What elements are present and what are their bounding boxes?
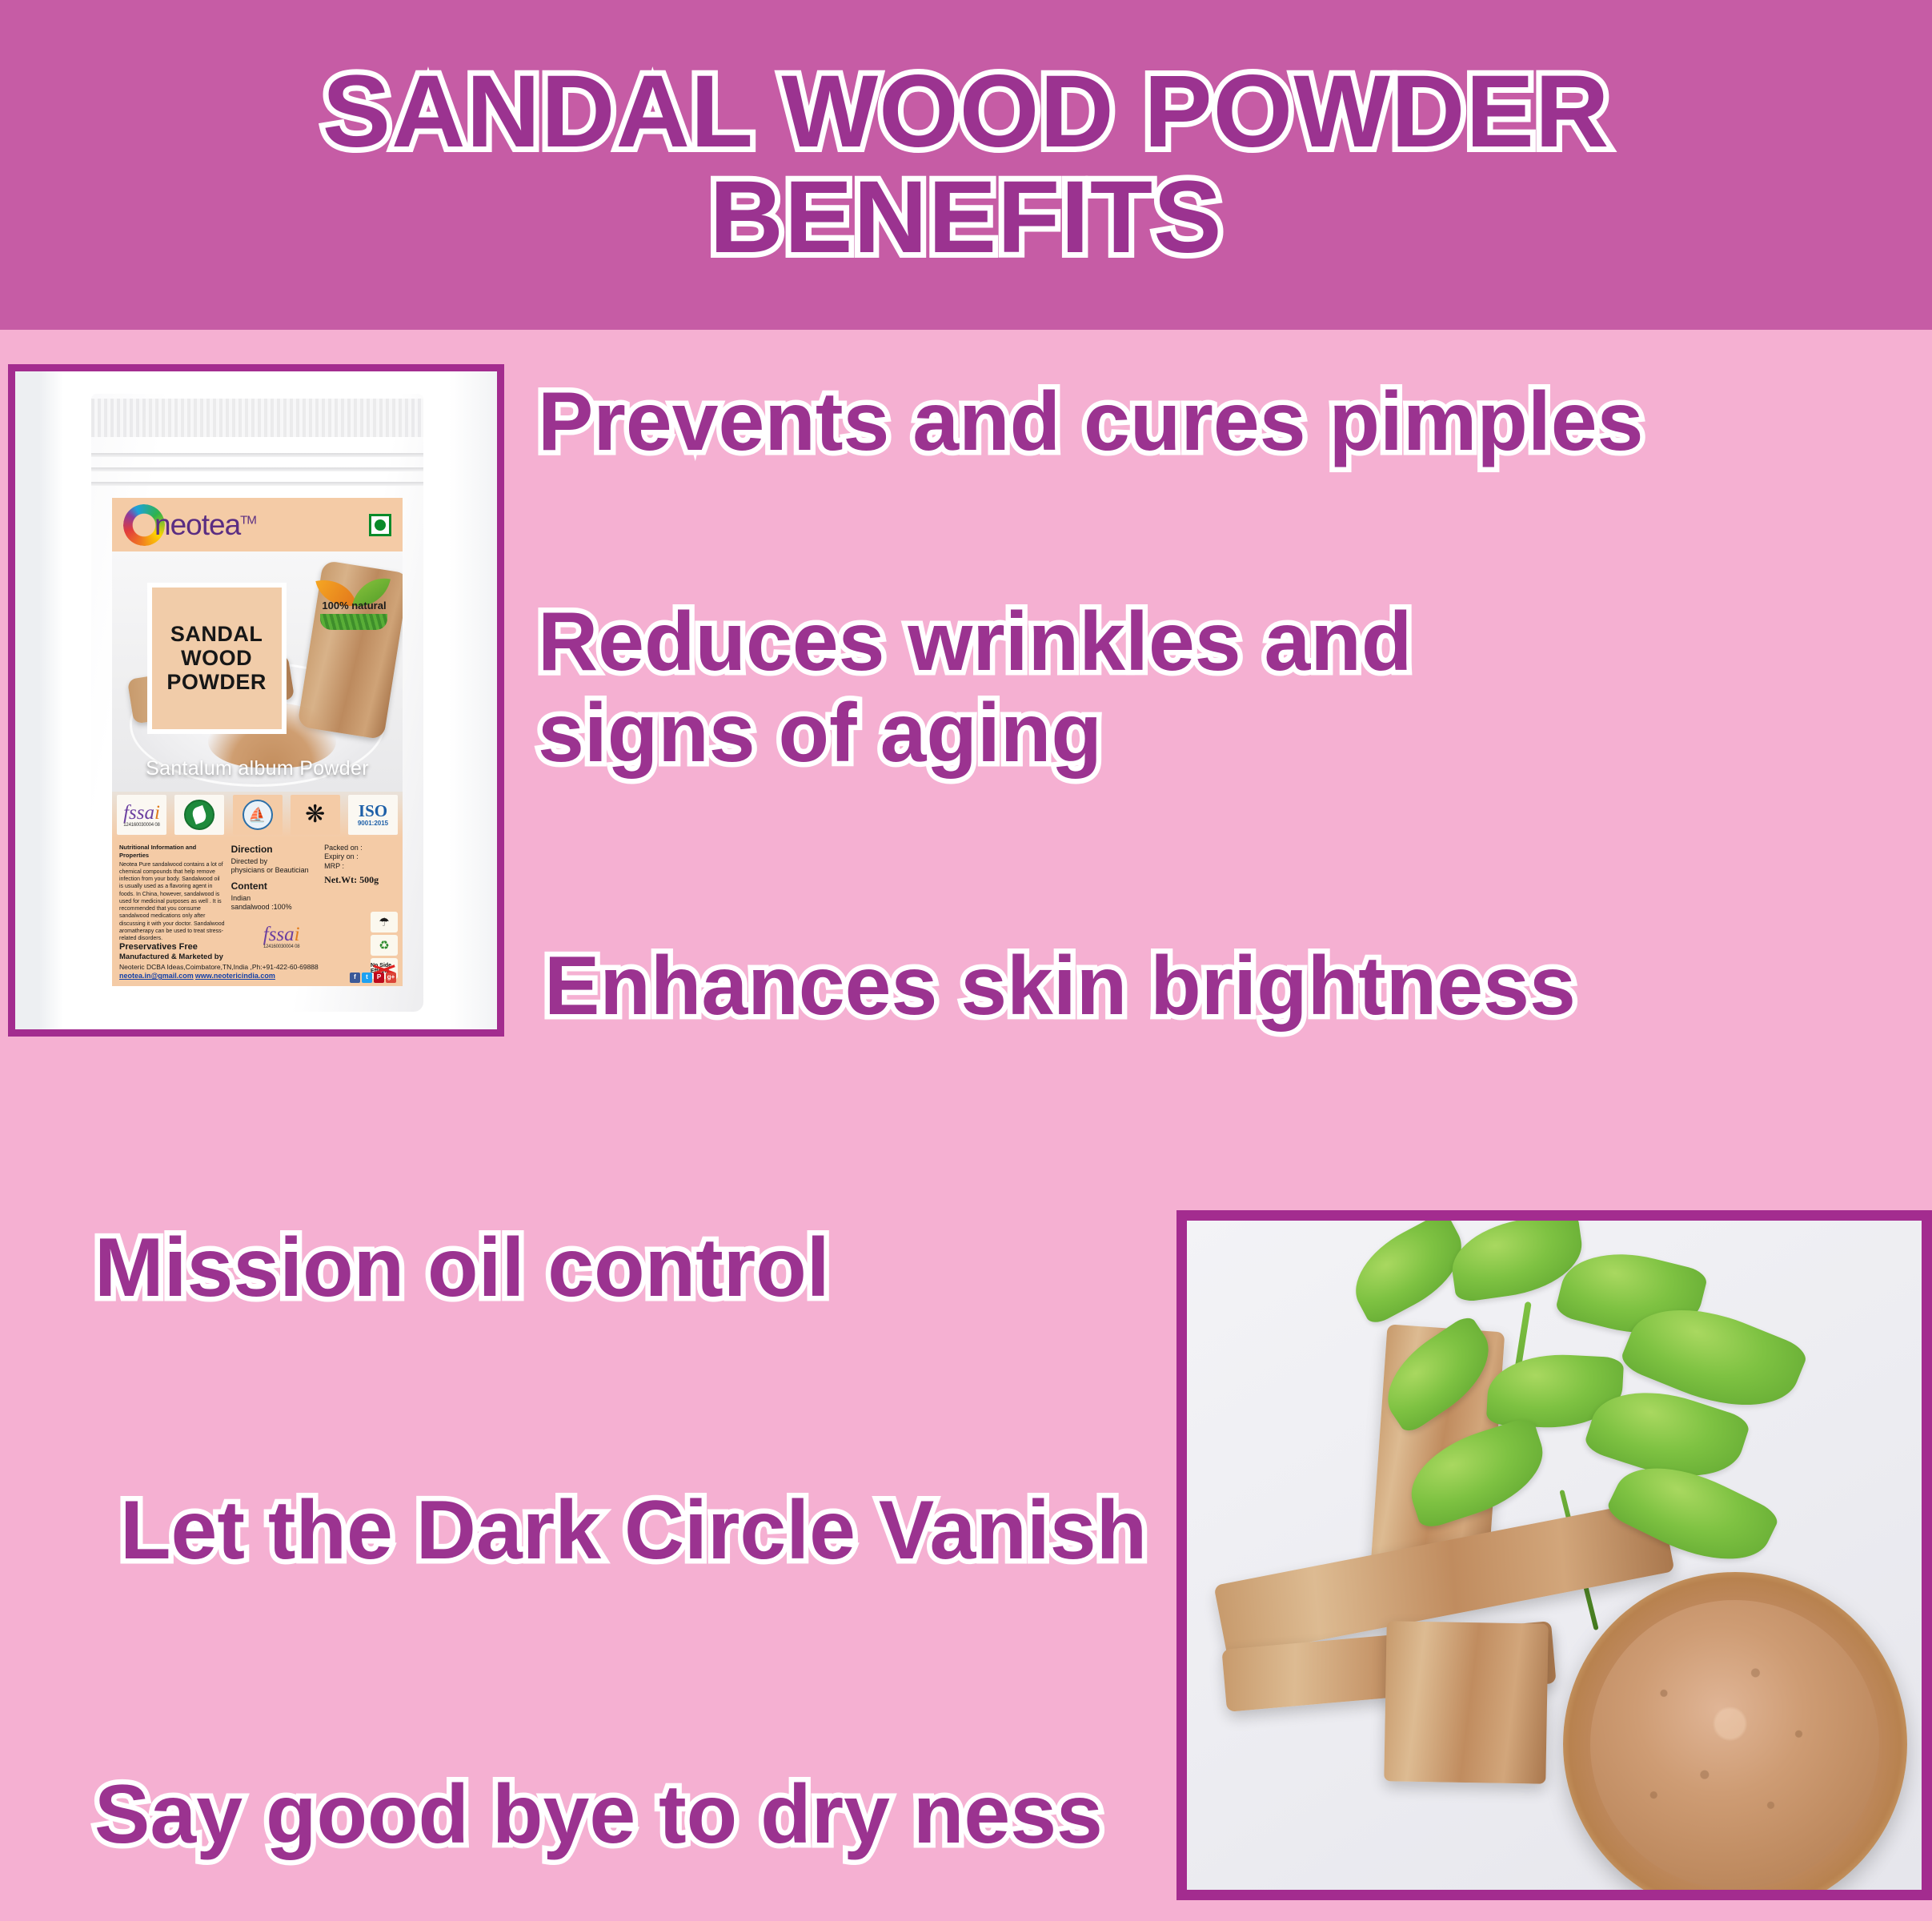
expiry-on-label: Expiry on :	[324, 852, 395, 861]
tea-board-icon	[184, 800, 214, 830]
preservatives-free-label: Preservatives Free	[119, 941, 387, 953]
powder-bowl	[1563, 1572, 1907, 1890]
page-title: SANDAL WOOD POWDER BENEFITS	[323, 59, 1610, 271]
packed-on-label: Packed on :	[324, 844, 395, 852]
social-links[interactable]: f t P g+	[350, 973, 396, 983]
trademark-mark: TM	[240, 513, 256, 527]
company-email[interactable]: neotea.in@gmail.com	[119, 972, 194, 980]
bottom-strip	[0, 1900, 1932, 1921]
content-heading: Content	[231, 880, 319, 893]
product-image-frame[interactable]: neoteaTM SANDAL WOOD POWDER	[8, 364, 504, 1037]
product-pouch: neoteaTM SANDAL WOOD POWDER	[91, 394, 423, 1012]
page-header: SANDAL WOOD POWDER BENEFITS	[0, 0, 1932, 330]
twitter-icon[interactable]: t	[362, 973, 372, 983]
direction-body: Directed by physicians or Beautician	[231, 857, 319, 876]
net-weight: Net.Wt: 500g	[324, 874, 395, 887]
company-website[interactable]: www.neotericindia.com	[195, 972, 275, 980]
certification-row: fssai 124160030004 08 ⛵ ❋ ISO 9001:2015	[112, 792, 403, 838]
content-body: Indian sandalwood :100%	[231, 894, 319, 912]
benefit-good-bye-dryness: Say good bye to dry ness	[94, 1769, 1103, 1860]
manufactured-label: Manufactured & Marketed by	[119, 952, 387, 963]
nutrition-column: Nutritional Information and Properties N…	[119, 844, 225, 942]
keep-dry-umbrella-icon: ☂	[371, 912, 398, 932]
product-title-line1: SANDAL	[170, 624, 263, 645]
fssai-logo-icon: fssai	[123, 803, 160, 823]
natural-badge-icon: 100% natural	[317, 575, 391, 632]
spices-board-certification: ⛵	[233, 795, 283, 835]
pouch-seam	[91, 482, 423, 486]
sandalwood-photo	[1187, 1221, 1922, 1890]
company-address: Neoteric DCBA Ideas,Coimbatore,TN,India …	[119, 963, 387, 972]
sandalwood-photo-frame[interactable]	[1176, 1210, 1932, 1900]
product-label: neoteaTM SANDAL WOOD POWDER	[112, 498, 403, 986]
product-subtitle: Santalum album Powder	[112, 757, 403, 780]
spices-board-icon: ⛵	[243, 800, 273, 830]
pouch-seam	[91, 467, 423, 471]
fssai-number: 124160030004 08	[123, 823, 159, 828]
benefit-enhances-skin-brightness: Enhances skin brightness	[544, 940, 1576, 1032]
product-title-line2: WOOD	[181, 648, 252, 669]
benefit-reduces-wrinkles-aging: Reduces wrinkles and signs of aging	[538, 596, 1412, 780]
natural-badge-label: 100% natural	[317, 600, 391, 612]
label-hero-photo: SANDAL WOOD POWDER 100% natural Santalum…	[112, 551, 403, 792]
facebook-icon[interactable]: f	[350, 973, 360, 983]
product-image: neoteaTM SANDAL WOOD POWDER	[15, 371, 497, 1029]
product-title-box: SANDAL WOOD POWDER	[147, 583, 287, 734]
sandalwood-stick	[1384, 1621, 1548, 1783]
mrp-label: MRP :	[324, 862, 395, 871]
sandalwood-powder	[1608, 1617, 1862, 1871]
benefit-mission-oil-control: Mission oil control	[94, 1222, 830, 1313]
iso-logo-icon: ISO	[359, 803, 387, 820]
nutrition-heading: Nutritional Information and Properties	[119, 844, 225, 860]
brand-name: neoteaTM	[154, 508, 256, 542]
fssai-certification: fssai 124160030004 08	[117, 795, 166, 835]
vegetarian-mark-icon	[369, 514, 391, 536]
label-info-block: Nutritional Information and Properties N…	[112, 838, 403, 986]
benefit-dark-circle-vanish: Let the Dark Circle Vanish	[120, 1485, 1147, 1576]
bowl-interior	[1590, 1600, 1879, 1889]
product-title-line3: POWDER	[166, 672, 267, 693]
direction-heading: Direction	[231, 844, 319, 856]
tea-board-certification	[174, 795, 224, 835]
benefit-prevents-cures-pimples: Prevents and cures pimples	[538, 376, 1643, 467]
plant-icon: ❋	[305, 803, 325, 827]
pouch-seam	[91, 453, 423, 457]
iso-standard-number: 9001:2015	[358, 820, 388, 827]
google-plus-icon[interactable]: g+	[386, 973, 396, 983]
plant-mark-certification: ❋	[291, 795, 340, 835]
pouch-zipper	[91, 399, 423, 437]
brand-strip: neoteaTM	[112, 498, 403, 551]
iso-certification: ISO 9001:2015	[348, 795, 398, 835]
nutrition-body: Neotea Pure sandalwood contains a lot of…	[119, 861, 225, 943]
pinterest-icon[interactable]: P	[374, 973, 384, 983]
